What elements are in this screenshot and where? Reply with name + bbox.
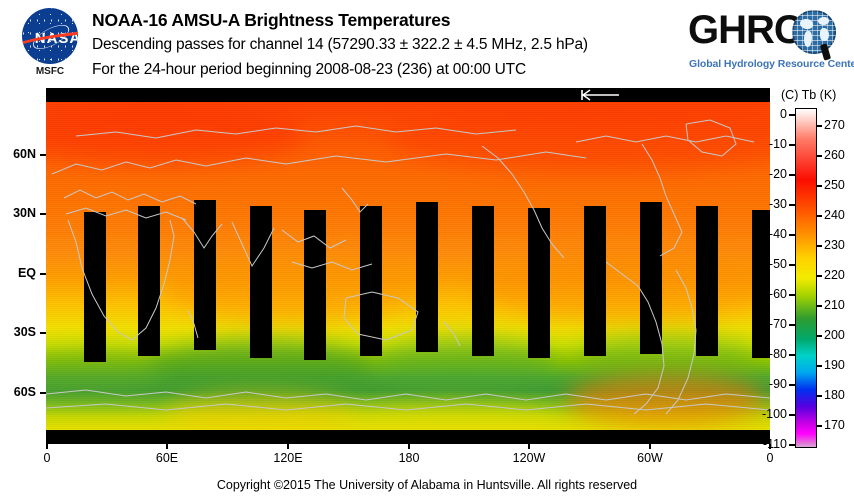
colorbar-tick-celsius [789,354,795,356]
y-axis-tick [40,213,46,215]
colorbar-tick-kelvin [816,185,822,187]
y-axis-label: 60N [0,147,36,161]
colorbar-label-celsius: -60 [755,287,787,301]
colorbar-label-celsius: -50 [755,257,787,271]
title-block: NOAA-16 AMSU-A Brightness Temperatures D… [92,8,672,82]
globe-landmass [820,28,829,41]
colorbar-tick-celsius [789,294,795,296]
colorbar-label-kelvin: 260 [824,148,845,162]
x-axis-tick [287,444,289,449]
y-axis-tick [40,332,46,334]
colorbar-label-celsius: -100 [755,407,787,421]
colorbar-label-kelvin: 270 [824,118,845,132]
colorbar-tick-celsius [789,204,795,206]
colorbar-tick-kelvin [816,365,822,367]
y-axis-tick [40,154,46,156]
x-axis-label: 120W [499,451,559,465]
y-axis-tick [40,273,46,275]
copyright-footer: Copyright ©2015 The University of Alabam… [0,478,854,492]
colorbar-tick-kelvin [816,245,822,247]
globe-gridlines [792,10,836,54]
nasa-meatball-icon: NASA [22,8,78,64]
ghrc-wordmark: GHRC [688,8,802,53]
x-axis-tick [649,444,651,449]
x-axis-label: 0 [17,451,77,465]
x-axis-tick [46,444,48,449]
ghrc-logo: GHRC Global Hydrology Resource Center [688,8,846,78]
colorbar-label-celsius: -30 [755,197,787,211]
colorbar-tick-kelvin [816,305,822,307]
x-axis-label: 180 [379,451,439,465]
colorbar-label-kelvin: 250 [824,178,845,192]
colorbar-label-celsius: -10 [755,137,787,151]
x-axis-label: 60E [137,451,197,465]
globe-landmass [800,19,813,29]
y-axis-label: 60S [0,385,36,399]
x-axis-label: 60W [620,451,680,465]
colorbar-header: (C) Tb (K) [781,88,836,102]
map-canvas [46,102,770,430]
colorbar-label-kelvin: 240 [824,208,845,222]
colorbar-label-kelvin: 210 [824,298,845,312]
colorbar-label-celsius: -70 [755,317,787,331]
colorbar-label-kelvin: 220 [824,268,845,282]
colorbar-label-celsius: -80 [755,347,787,361]
colorbar-gradient [795,108,817,448]
colorbar-tick-celsius [789,264,795,266]
nasa-logo: NASA MSFC [14,6,86,80]
colorbar-label-kelvin: 190 [824,358,845,372]
colorbar-tick-kelvin [816,425,822,427]
colorbar-tick-celsius [789,324,795,326]
colorbar-tick-kelvin [816,125,822,127]
y-axis-label: 30S [0,325,36,339]
x-axis-label: 0 [740,451,800,465]
colorbar-label-kelvin: 180 [824,388,845,402]
colorbar-label-kelvin: 230 [824,238,845,252]
x-axis-label: 120E [258,451,318,465]
y-axis-tick [40,392,46,394]
nasa-center-label: MSFC [14,66,86,77]
colorbar-tick-celsius [789,444,795,446]
y-axis-label: 30N [0,206,36,220]
colorbar-tick-celsius [789,114,795,116]
globe-landmass [818,17,829,25]
subtitle-period: For the 24-hour period beginning 2008-08… [92,57,672,82]
y-axis-label: EQ [0,266,36,280]
colorbar-label-celsius: -90 [755,377,787,391]
colorbar-tick-celsius [789,234,795,236]
colorbar-tick-celsius [789,174,795,176]
colorbar-tick-celsius [789,414,795,416]
header: NASA MSFC NOAA-16 AMSU-A Brightness Temp… [0,0,854,86]
x-axis-tick [408,444,410,449]
colorbar-label-celsius: -20 [755,167,787,181]
colorbar-tick-kelvin [816,395,822,397]
colorbar-label-celsius: -110 [755,437,787,451]
colorbar-label-kelvin: 200 [824,328,845,342]
coastline-overlay [46,102,770,430]
colorbar-tick-kelvin [816,155,822,157]
colorbar-tick-kelvin [816,215,822,217]
map-plot-area [46,88,770,444]
descending-node-arrow-icon [579,88,621,102]
colorbar-tick-kelvin [816,335,822,337]
colorbar-label-kelvin: 170 [824,418,845,432]
x-axis-tick [166,444,168,449]
colorbar-tick-kelvin [816,275,822,277]
ghrc-subtitle: Global Hydrology Resource Center [689,58,845,70]
page-title: NOAA-16 AMSU-A Brightness Temperatures [92,8,672,32]
colorbar-label-celsius: 0 [755,107,787,121]
x-axis-tick [528,444,530,449]
colorbar-tick-celsius [789,144,795,146]
subtitle-channel: Descending passes for channel 14 (57290.… [92,32,672,57]
colorbar-label-celsius: -40 [755,227,787,241]
colorbar-tick-celsius [789,384,795,386]
globe-icon [792,10,836,54]
